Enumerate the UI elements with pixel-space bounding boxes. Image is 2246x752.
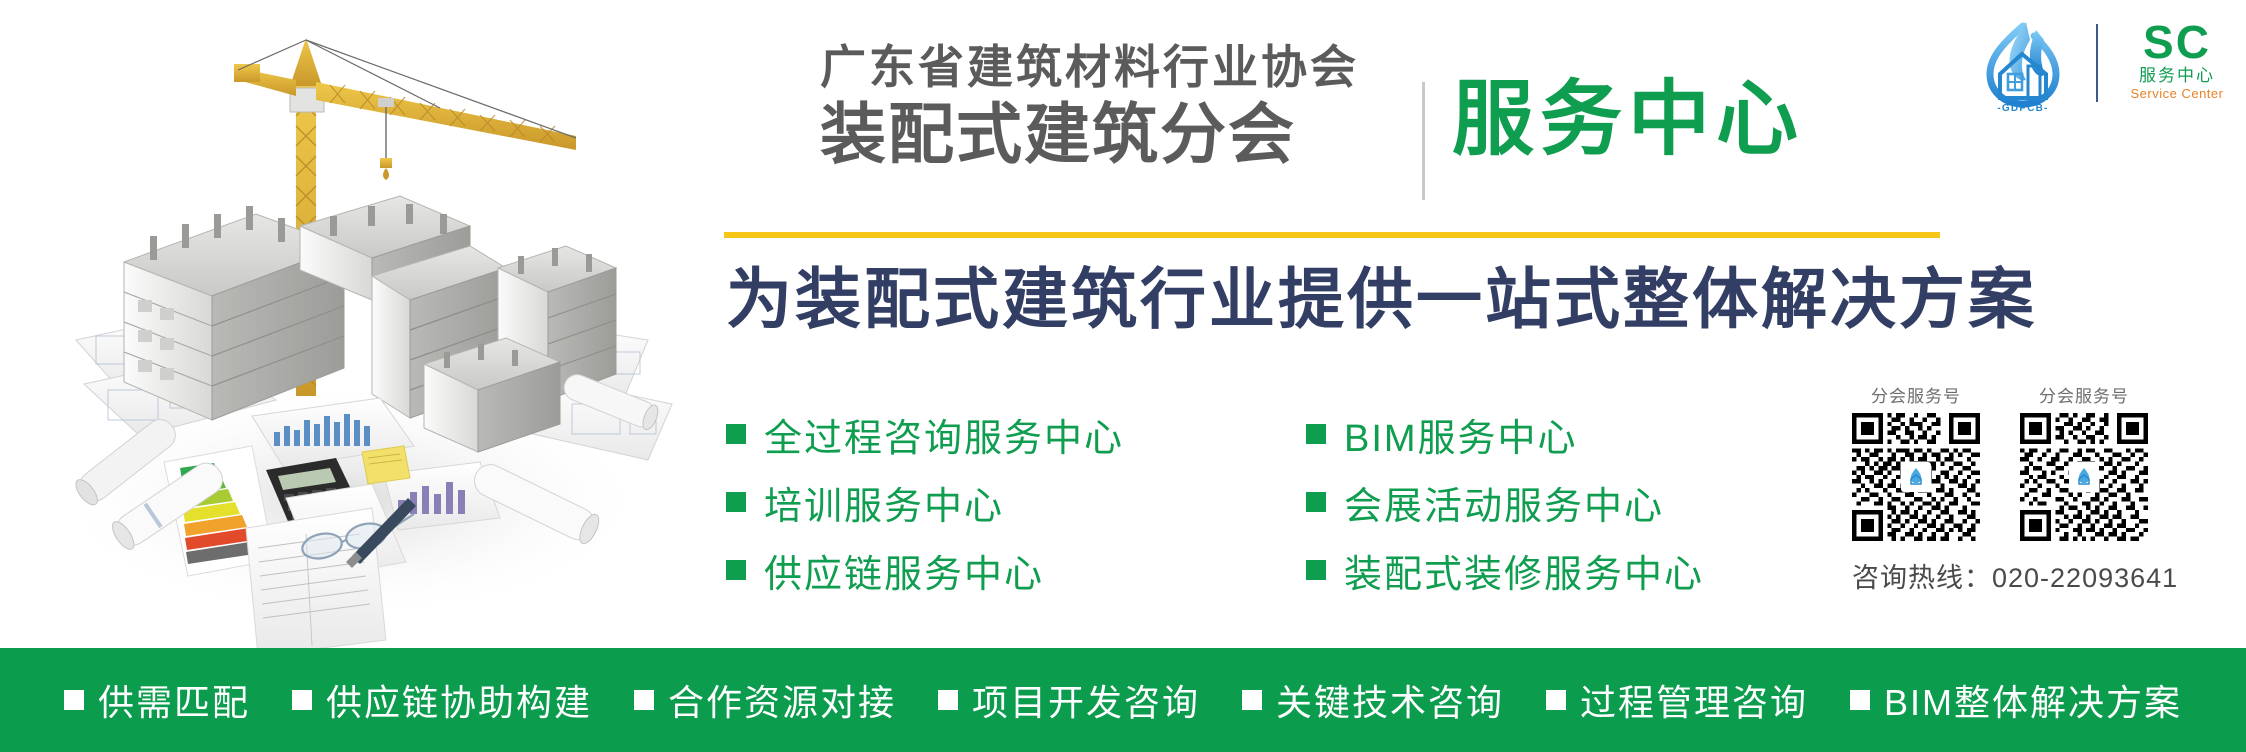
qr-label: 分会服务号 [2020, 382, 2148, 407]
service-item[interactable]: 供应链服务中心 [726, 536, 1124, 604]
square-bullet-icon [64, 690, 84, 710]
square-bullet-icon [1306, 560, 1326, 580]
service-item-label: 全过程咨询服务中心 [764, 407, 1124, 462]
square-bullet-icon [938, 690, 958, 710]
square-bullet-icon [1850, 690, 1870, 710]
qr-label: 分会服务号 [1852, 382, 1980, 407]
service-item[interactable]: 培训服务中心 [726, 468, 1124, 536]
main-headline: 为装配式建筑行业提供一站式整体解决方案 [726, 258, 2037, 340]
qr-embedded-logo-icon [1901, 462, 1931, 492]
bar-item[interactable]: 关键技术咨询 [1242, 674, 1504, 726]
qr-code-image-1[interactable] [1852, 413, 1980, 541]
gold-divider-rule [724, 232, 1940, 238]
service-list-right-column: BIM服务中心 会展活动服务中心 装配式装修服务中心 [1306, 400, 1704, 604]
qr-code-block: 分会服务号 [1852, 382, 2240, 582]
service-list-left-column: 全过程咨询服务中心 培训服务中心 供应链服务中心 [726, 400, 1124, 604]
hero-construction-image [0, 0, 700, 648]
sc-english-label: Service Center [2118, 86, 2236, 102]
bar-item-label: 供应链协助构建 [326, 674, 592, 726]
square-bullet-icon [1546, 690, 1566, 710]
sticky-note [362, 446, 410, 484]
bar-item[interactable]: BIM整体解决方案 [1850, 674, 2182, 726]
square-bullet-icon [634, 690, 654, 710]
service-item-label: 装配式装修服务中心 [1344, 543, 1704, 598]
bar-item-label: 过程管理咨询 [1580, 674, 1808, 726]
bar-item-label: 关键技术咨询 [1276, 674, 1504, 726]
bar-item[interactable]: 项目开发咨询 [938, 674, 1200, 726]
square-bullet-icon [1306, 424, 1326, 444]
bar-item-label: 项目开发咨询 [972, 674, 1200, 726]
svg-text:-GDPCB-: -GDPCB- [1997, 103, 2048, 114]
hotline-text: 咨询热线：020-22093641 [1852, 556, 2178, 595]
bar-item[interactable]: 供应链协助构建 [292, 674, 592, 726]
square-bullet-icon [1306, 492, 1326, 512]
bar-item-label: 供需匹配 [98, 674, 250, 726]
service-item-label: 培训服务中心 [764, 475, 1004, 530]
square-bullet-icon [292, 690, 312, 710]
service-item-label: 供应链服务中心 [764, 543, 1044, 598]
bar-item-label: BIM整体解决方案 [1884, 674, 2182, 726]
service-item[interactable]: 会展活动服务中心 [1306, 468, 1704, 536]
logo-divider [2096, 24, 2098, 102]
service-item[interactable]: 全过程咨询服务中心 [726, 400, 1124, 468]
qr-cell[interactable]: 分会服务号 [2020, 382, 2148, 541]
service-item[interactable]: 装配式装修服务中心 [1306, 536, 1704, 604]
sc-chinese-label: 服务中心 [2118, 66, 2236, 86]
qr-embedded-logo-icon [2069, 462, 2099, 492]
bottom-service-bar: 供需匹配 供应链协助构建 合作资源对接 项目开发咨询 关键技术咨询 过程管理咨询… [0, 648, 2246, 752]
sc-monogram: SC [2118, 18, 2236, 66]
brand-logo-area[interactable]: -GDPCB- SC 服务中心 Service Center [1968, 14, 2236, 114]
square-bullet-icon [726, 492, 746, 512]
square-bullet-icon [726, 560, 746, 580]
banner-root: 广东省建筑材料行业协会 装配式建筑分会 服务中心 为装配式建筑行业提供一站式整体… [0, 0, 2246, 752]
bar-item[interactable]: 供需匹配 [64, 674, 250, 726]
service-item-label: BIM服务中心 [1344, 407, 1578, 462]
sc-service-center-logo: SC 服务中心 Service Center [2118, 18, 2236, 102]
bar-item-label: 合作资源对接 [668, 674, 896, 726]
service-item-label: 会展活动服务中心 [1344, 475, 1664, 530]
service-center-heading: 服务中心 [1452, 72, 1804, 168]
bar-item[interactable]: 过程管理咨询 [1546, 674, 1808, 726]
gdpcb-emblem-icon: -GDPCB- [1968, 14, 2078, 114]
title-vertical-divider [1422, 82, 1425, 200]
qr-cell[interactable]: 分会服务号 [1852, 382, 1980, 541]
bar-item[interactable]: 合作资源对接 [634, 674, 896, 726]
service-item[interactable]: BIM服务中心 [1306, 400, 1704, 468]
qr-code-image-2[interactable] [2020, 413, 2148, 541]
square-bullet-icon [726, 424, 746, 444]
square-bullet-icon [1242, 690, 1262, 710]
